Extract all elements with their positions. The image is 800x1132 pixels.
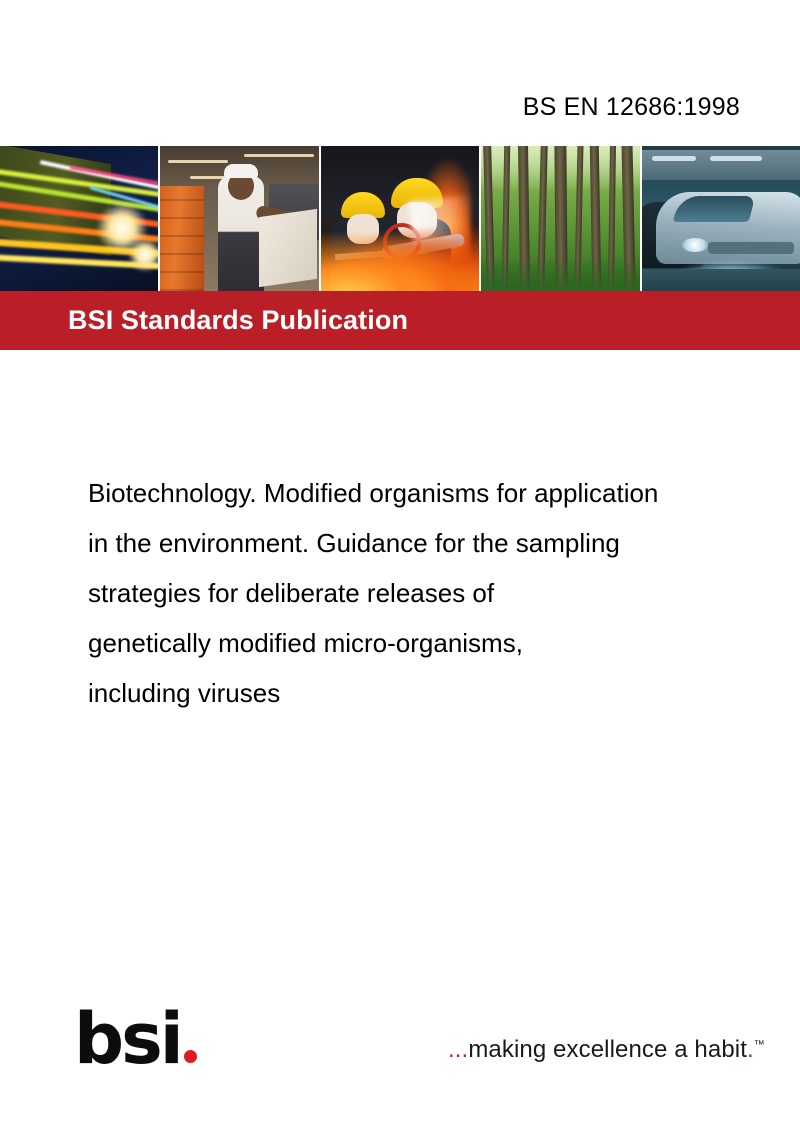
banner-image-firefighters <box>321 146 481 291</box>
document-title: Biotechnology. Modified organisms for ap… <box>88 468 800 718</box>
bsi-tagline: ...making excellence a habit.™ <box>448 1036 765 1064</box>
banner-image-warehouse-worker <box>160 146 320 291</box>
car-headlight <box>682 238 708 252</box>
ceiling-light <box>168 160 228 163</box>
flames <box>321 221 481 291</box>
banner-image-car-production-line <box>642 146 800 291</box>
tagline-text: making excellence a habit <box>468 1036 747 1063</box>
publisher-banner-bar: BSI Standards Publication <box>0 291 800 350</box>
bsi-logo-dot-icon <box>184 1050 197 1063</box>
car-windshield <box>673 196 755 222</box>
overhead-rail <box>642 150 800 180</box>
cover-banner-strip <box>0 146 800 291</box>
headlight-glow <box>128 238 160 272</box>
title-line: strategies for deliberate releases of <box>88 568 800 618</box>
trademark-icon: ™ <box>754 1039 765 1051</box>
title-line: genetically modified micro-organisms, <box>88 618 800 668</box>
banner-image-forest <box>481 146 641 291</box>
orange-crates <box>160 186 204 291</box>
worker-cap <box>224 164 258 178</box>
title-line: including viruses <box>88 668 800 718</box>
title-line: Biotechnology. Modified organisms for ap… <box>88 468 800 518</box>
banner-image-night-traffic-light-trails <box>0 146 160 291</box>
car-grille <box>708 242 794 254</box>
tagline-period: . <box>747 1036 754 1063</box>
rail-light <box>652 156 696 161</box>
factory-floor <box>642 269 800 291</box>
standard-number: BS EN 12686:1998 <box>523 93 740 122</box>
bsi-logo: bsi <box>74 1004 197 1066</box>
rail-light <box>710 156 762 161</box>
title-line: in the environment. Guidance for the sam… <box>88 518 800 568</box>
ceiling-light <box>244 154 314 157</box>
publisher-banner-title: BSI Standards Publication <box>68 305 408 336</box>
tagline-ellipsis: ... <box>448 1036 468 1063</box>
carton <box>259 209 317 287</box>
forest-floor <box>481 257 639 291</box>
bsi-logo-wordmark: bsi <box>74 1004 181 1074</box>
